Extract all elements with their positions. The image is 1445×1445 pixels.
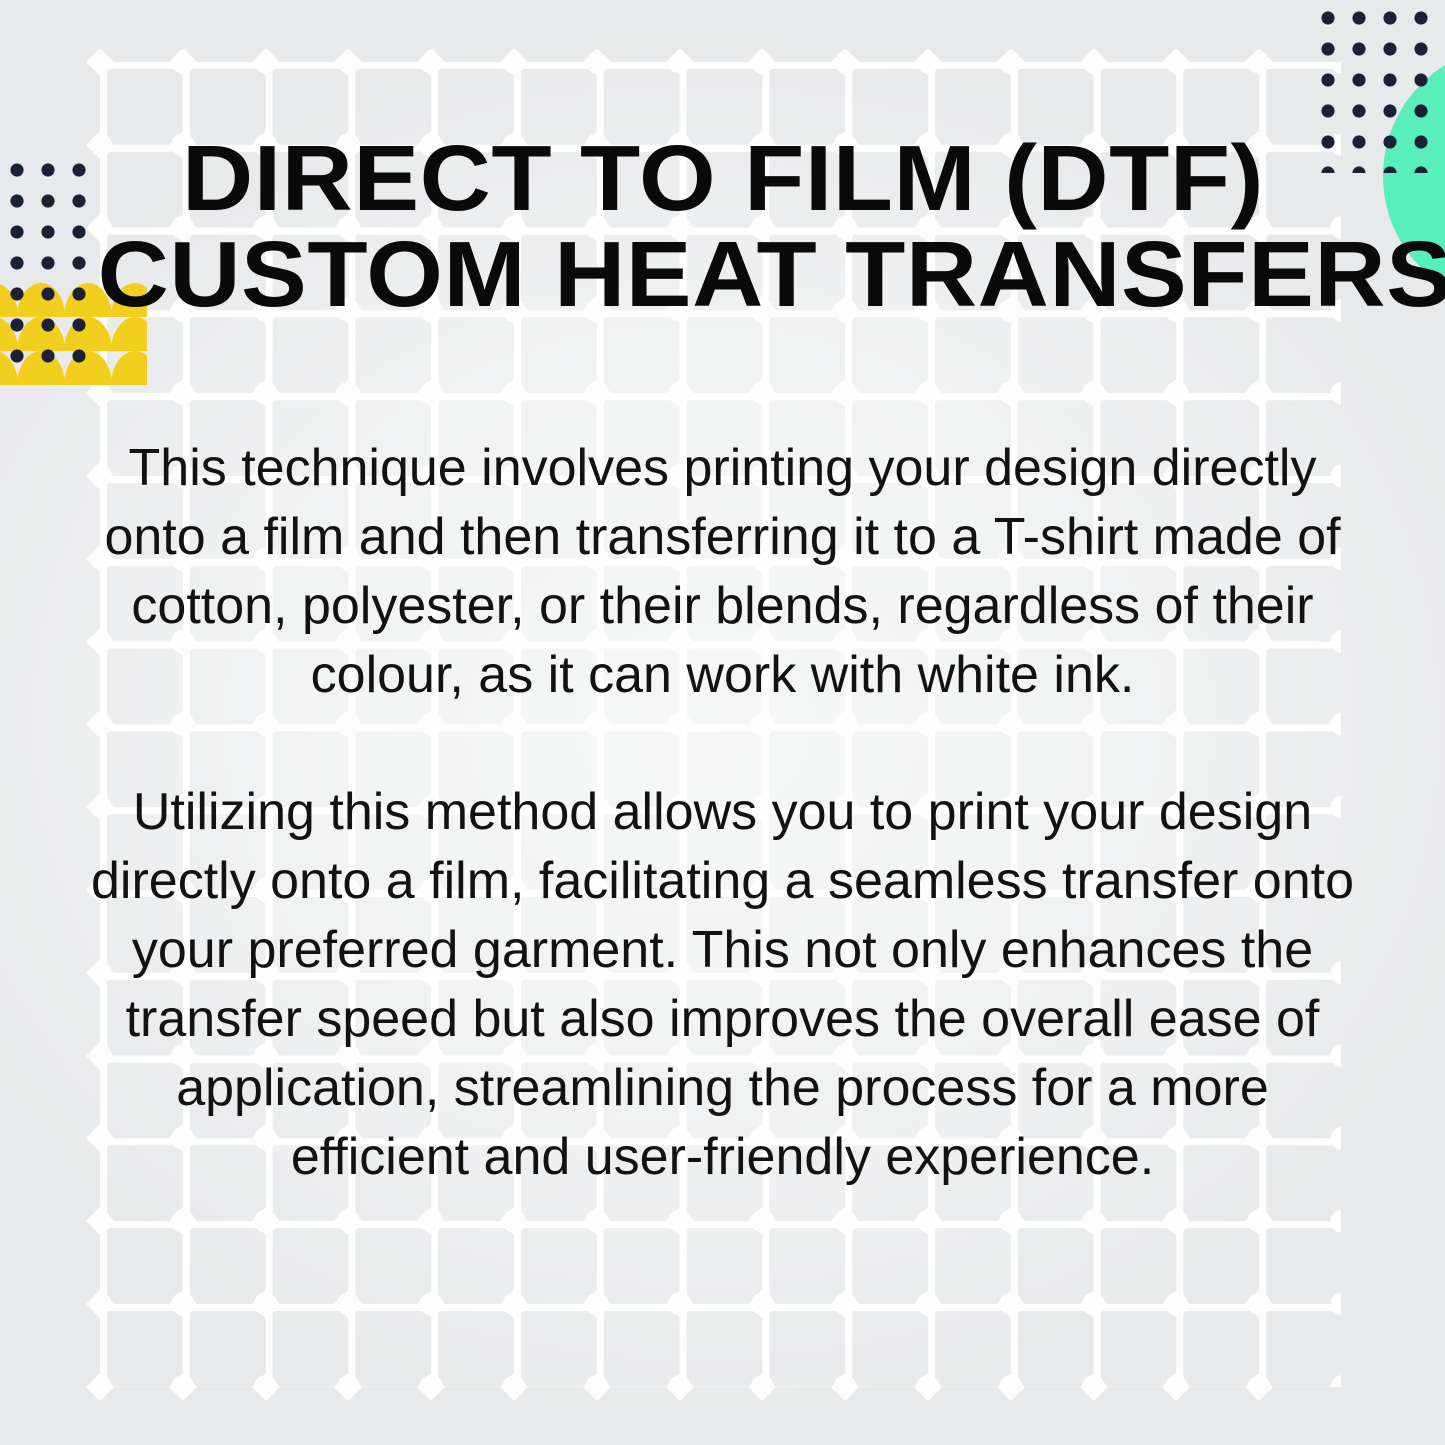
body-paragraph-2: Utilizing this method allows you to prin… [87,778,1359,1192]
page-title: DIRECT TO FILM (DTF) CUSTOM HEAT TRANSFE… [133,130,1313,322]
poster-canvas: DIRECT TO FILM (DTF) CUSTOM HEAT TRANSFE… [0,0,1445,1445]
poster-content: DIRECT TO FILM (DTF) CUSTOM HEAT TRANSFE… [0,0,1445,1445]
title-line-1: DIRECT TO FILM (DTF) [97,130,1348,226]
body-text-block: This technique involves printing your de… [92,434,1354,1192]
title-line-2: CUSTOM HEAT TRANSFERS [97,226,1348,322]
body-paragraph-1: This technique involves printing your de… [92,434,1354,710]
